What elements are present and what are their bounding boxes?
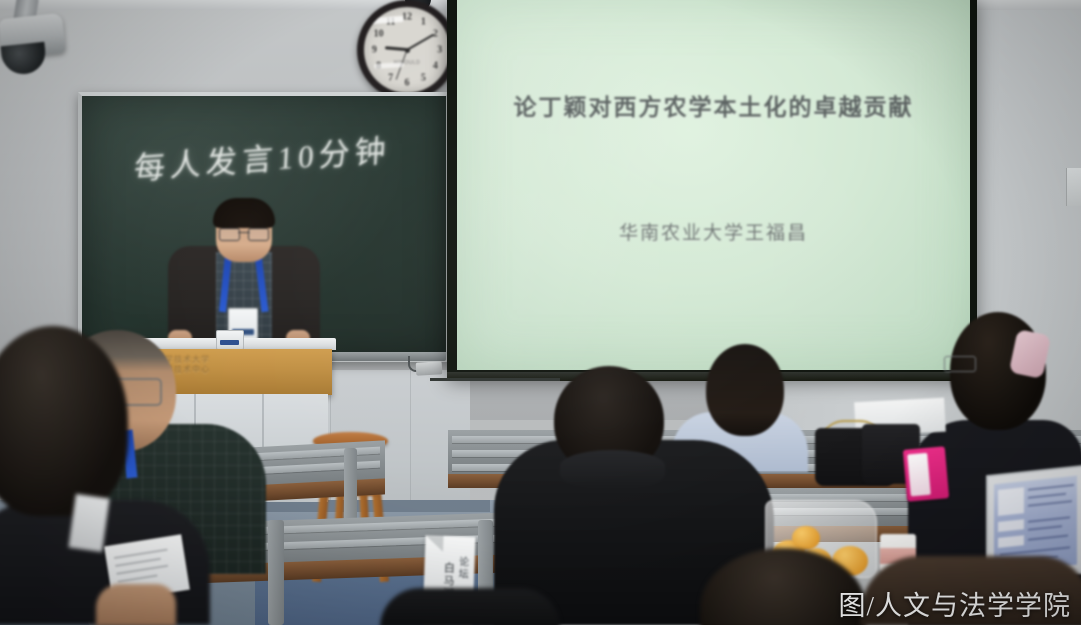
clock-center-hub <box>405 48 410 53</box>
ui-block <box>998 535 1024 548</box>
tote-bag-text-col2: 论坛 <box>454 556 470 581</box>
wall-clock: 12 1 2 3 4 5 6 7 8 9 10 11 HIMOULD <box>357 0 457 100</box>
eyeglasses-icon <box>944 356 976 372</box>
photo-credit-watermark: 图/人文与法学学院 <box>838 584 1071 623</box>
ui-line <box>1028 493 1066 499</box>
audience-hand <box>96 584 176 625</box>
ui-line <box>1028 535 1068 541</box>
clock-numeral: 1 <box>421 16 426 27</box>
ui-line <box>1028 484 1074 491</box>
paper-line <box>115 558 161 567</box>
clock-glass-glare <box>370 16 404 24</box>
wall-panel-seam <box>410 370 411 520</box>
pink-phone-case <box>903 446 949 501</box>
slide-subtitle: 华南农业大学王福昌 <box>457 218 970 245</box>
clock-numeral: 6 <box>405 77 410 88</box>
wall-fixture <box>1066 168 1081 206</box>
clock-numeral: 5 <box>421 73 426 84</box>
projection-screen: 论丁颖对西方农学本土化的卓越贡献 华南农业大学王福昌 <box>457 0 970 370</box>
audience-head <box>706 344 784 436</box>
clock-numeral: 4 <box>433 61 438 72</box>
screen-glare <box>457 0 970 370</box>
presenter-hair <box>213 198 275 228</box>
clock-minute-hand <box>406 33 434 51</box>
paper-line <box>116 565 168 575</box>
audience-shoulders <box>380 588 560 625</box>
clock-numeral: 7 <box>388 73 393 84</box>
ui-block <box>998 519 1024 532</box>
ui-line <box>1000 546 1070 555</box>
clock-face: 12 1 2 3 4 5 6 7 8 9 10 11 HIMOULD <box>364 7 450 93</box>
ui-block <box>998 487 1024 516</box>
slide-title: 论丁颖对西方农学本土化的卓越贡献 <box>457 88 970 122</box>
paper-line <box>118 574 158 582</box>
clock-hour-hand <box>385 46 407 51</box>
lecture-hall-photo: 12 1 2 3 4 5 6 7 8 9 10 11 HIMOULD 每人发言1… <box>0 0 1081 625</box>
eyeglasses-icon <box>219 228 269 239</box>
clock-numeral: 10 <box>374 28 384 39</box>
clock-numeral: 3 <box>437 45 442 56</box>
ui-line <box>1028 500 1072 507</box>
ui-line <box>1028 525 1062 531</box>
bench-post <box>268 520 284 625</box>
podium-mic-plate <box>216 330 244 350</box>
jacket-hood <box>560 450 665 490</box>
ui-line <box>1028 516 1070 522</box>
clock-numeral: 9 <box>372 45 377 56</box>
orange-fruit <box>792 526 820 550</box>
screen-support-rod <box>430 378 560 381</box>
eraser <box>416 361 443 375</box>
tote-fold <box>425 535 444 552</box>
